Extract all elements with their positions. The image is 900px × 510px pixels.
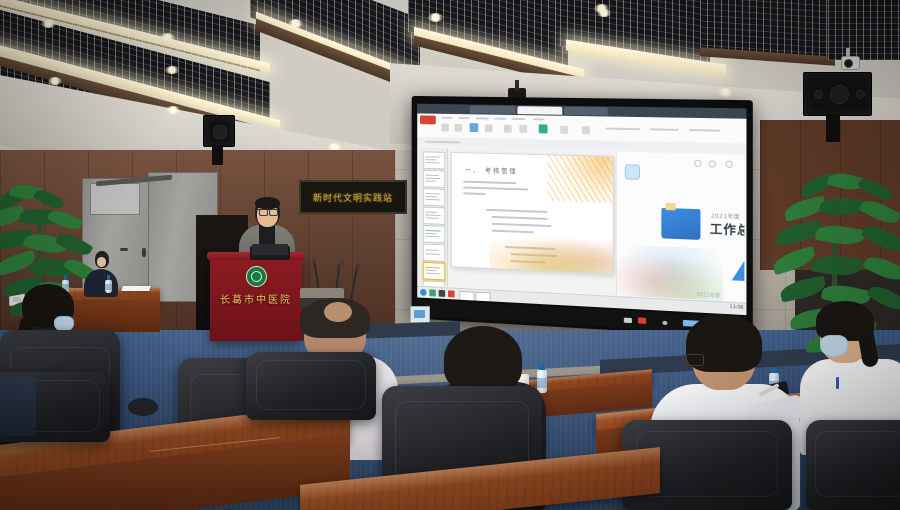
app-tab[interactable] <box>564 107 608 116</box>
thumbnail-item[interactable] <box>423 207 445 225</box>
face <box>97 257 106 267</box>
bald-spot <box>324 302 352 322</box>
clock: 13:08 <box>730 305 744 311</box>
thumbnail-item[interactable] <box>423 188 445 206</box>
taskbar-icon[interactable] <box>429 289 436 296</box>
app-tab[interactable] <box>470 105 516 114</box>
ribbon-menu-label[interactable] <box>494 118 505 120</box>
bag[interactable] <box>0 376 36 436</box>
taskbar-icon[interactable] <box>448 290 455 297</box>
folder-icon <box>661 208 700 240</box>
taskbar-window-button[interactable] <box>475 291 490 302</box>
ceiling-downlight <box>48 77 62 85</box>
wall-speaker-right <box>803 72 872 116</box>
hair <box>444 326 522 392</box>
door-handle[interactable] <box>120 248 128 251</box>
wps-logo-icon <box>420 115 436 124</box>
ceiling-downlight <box>288 19 303 28</box>
ribbon-button[interactable] <box>455 124 463 132</box>
ribbon-menu-label[interactable] <box>533 118 545 120</box>
glasses-icon <box>686 354 704 366</box>
chair-foreground-right[interactable] <box>246 352 376 420</box>
ribbon-button[interactable] <box>560 126 568 134</box>
display-screen[interactable]: 一、 考核管理 <box>417 104 746 315</box>
pen-in-pocket <box>836 377 839 389</box>
start-icon[interactable] <box>420 289 427 296</box>
door-handle[interactable] <box>142 248 146 257</box>
papers-on-desk[interactable] <box>121 286 150 291</box>
ribbon-menu-label[interactable] <box>441 117 452 119</box>
ribbon-button[interactable] <box>504 125 512 133</box>
document-heading: 一、 考核管理 <box>465 164 518 175</box>
smart-display[interactable]: 一、 考核管理 <box>412 96 753 338</box>
preview-toolbar[interactable] <box>653 159 738 167</box>
preview-title: 工作总结汇报 <box>710 220 745 241</box>
thumbnail-item-selected[interactable] <box>423 262 445 281</box>
ceiling-downlight <box>718 88 733 97</box>
ribbon-field[interactable] <box>650 128 679 131</box>
wall-speaker-left <box>203 115 235 147</box>
ceiling-projector-pole <box>515 80 519 90</box>
ribbon-button[interactable] <box>441 124 448 132</box>
app-workspace[interactable]: 一、 考核管理 <box>417 145 746 303</box>
taskbar-window-button[interactable] <box>459 290 474 301</box>
hair <box>255 197 280 209</box>
ribbon-button[interactable] <box>470 123 479 132</box>
thumbnail-item[interactable] <box>423 225 445 243</box>
close-icon[interactable] <box>725 161 732 168</box>
app-tab-active[interactable] <box>517 106 562 115</box>
av-control-panel[interactable] <box>410 306 430 323</box>
ceiling-downlight <box>41 19 56 28</box>
preview-icon[interactable] <box>694 160 701 167</box>
ceiling-downlight <box>166 106 180 114</box>
ribbon-field[interactable] <box>606 128 640 131</box>
preview-blue-accent <box>732 254 745 282</box>
document-page[interactable]: 一、 考核管理 <box>451 152 614 275</box>
taskbar-icon[interactable] <box>439 290 446 297</box>
template-thumbnail-icon[interactable] <box>625 164 640 180</box>
security-camera <box>841 56 860 70</box>
water-bottle[interactable] <box>105 275 112 293</box>
glasses-lens <box>259 209 268 216</box>
wall-plaque: 新时代文明实践站 <box>299 180 407 214</box>
ceiling-downlight <box>160 33 175 42</box>
thumbnail-item[interactable] <box>423 243 445 261</box>
ribbon-button[interactable] <box>539 124 548 133</box>
chair-caster <box>128 398 158 416</box>
ribbon-field[interactable] <box>689 129 720 132</box>
wall-plaque-text: 新时代文明实践站 <box>313 191 393 204</box>
page-bottom-decoration <box>490 229 614 275</box>
ribbon-menu-label[interactable] <box>458 117 469 119</box>
ceiling-downlight <box>597 9 611 17</box>
speaker-mount <box>826 114 840 142</box>
microphone-head <box>356 263 360 267</box>
template-preview-pane[interactable]: 2021年度 工作总结汇报 2021年度 简洁通用模板 <box>616 152 745 302</box>
hospital-emblem-icon <box>246 266 267 287</box>
face-mask <box>820 335 848 357</box>
preview-icon[interactable] <box>709 160 716 167</box>
ceiling-downlight <box>428 13 443 22</box>
chair-attendee-5[interactable] <box>806 420 900 510</box>
slide-thumbnail-rail[interactable] <box>419 147 448 286</box>
microphone-head <box>312 259 316 263</box>
conference-room-photo: 新时代文明实践站 <box>0 0 900 510</box>
ribbon-menu-label[interactable] <box>475 117 488 119</box>
glasses-lens <box>269 209 278 216</box>
microphone-head <box>340 261 344 265</box>
thumbnail-item[interactable] <box>423 170 445 188</box>
speaker-mount <box>212 145 223 165</box>
laptop-screen[interactable] <box>252 244 288 255</box>
ribbon-button[interactable] <box>485 124 493 132</box>
document-tab-label[interactable] <box>425 141 461 144</box>
power-indicator <box>624 318 632 324</box>
ceiling-downlight <box>165 66 179 74</box>
page-corner-decoration <box>548 152 614 203</box>
record-indicator <box>638 317 646 324</box>
ribbon-menu-label[interactable] <box>512 118 526 120</box>
ribbon-button[interactable] <box>582 126 590 134</box>
thumbnail-item[interactable] <box>423 151 445 169</box>
camera-mount <box>846 48 850 57</box>
ribbon-button[interactable] <box>519 125 527 133</box>
